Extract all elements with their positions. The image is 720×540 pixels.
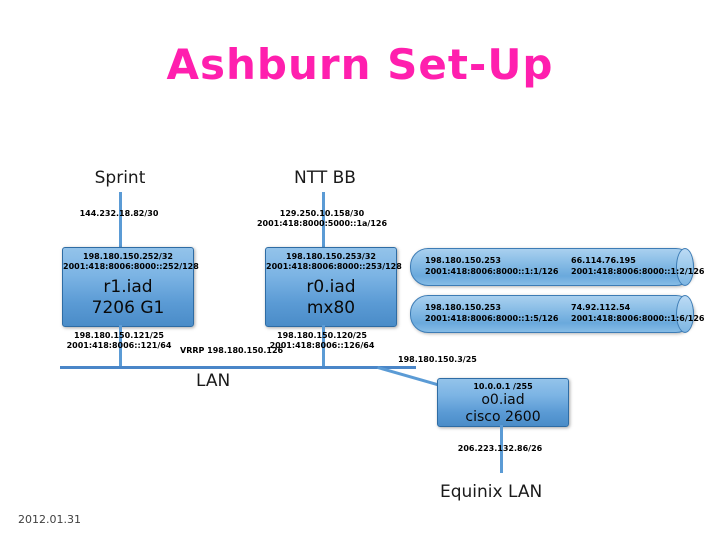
provider-label-sprint: Sprint (60, 168, 180, 188)
provider-label-ntt: NTT BB (265, 168, 385, 188)
router-r0-model: mx80 (266, 298, 396, 319)
router-r0-ipv6: 2001:418:8006:8000::253/128 (266, 262, 396, 272)
router-node-r0[interactable]: 198.180.150.253/32 2001:418:8006:8000::2… (265, 247, 397, 327)
tunnel-1-remote-ipv6: 2001:418:8006:8000::1:2/126 (571, 266, 704, 277)
lan-address-r1: 198.180.150.121/25 2001:418:8006::121/64 (49, 331, 189, 351)
router-r1-ipv6: 2001:418:8006:8000::252/128 (63, 262, 193, 272)
tunnel-1-local: 198.180.150.253 2001:418:8006:8000::1:1/… (425, 255, 558, 277)
tunnel-2-local: 198.180.150.253 2001:418:8006:8000::1:5/… (425, 302, 558, 324)
lan-r0-ipv4: 198.180.150.120/25 (252, 331, 392, 341)
equinix-lan-label: Equinix LAN (440, 482, 542, 502)
router-o0-ip: 10.0.0.1 /255 (438, 379, 568, 392)
tunnel-2-remote: 74.92.112.54 2001:418:8006:8000::1:6/126 (571, 302, 704, 324)
router-o0-model: cisco 2600 (438, 409, 568, 426)
tunnel-cylinder-1[interactable]: 198.180.150.253 2001:418:8006:8000::1:1/… (410, 248, 694, 286)
uplink-line-sprint (119, 192, 122, 248)
lan-bus-line (60, 366, 416, 369)
page-title: Ashburn Set-Up (0, 40, 720, 89)
date-stamp: 2012.01.31 (18, 513, 81, 526)
uplink-ntt-ipv6: 2001:418:8000:5000::1a/126 (252, 219, 392, 229)
equinix-link-address: 206.223.132.86/26 (430, 444, 570, 454)
router-r0-name: r0.iad (266, 277, 396, 298)
router-r1-ipv4: 198.180.150.252/32 (63, 248, 193, 262)
tunnel-2-local-ipv6: 2001:418:8006:8000::1:5/126 (425, 313, 558, 324)
router-o0-name: o0.iad (438, 392, 568, 409)
uplink-address-sprint: 144.232.18.82/30 (49, 209, 189, 219)
tunnel-2-local-ipv4: 198.180.150.253 (425, 302, 558, 313)
router-r1-name: r1.iad (63, 277, 193, 298)
lan-label: LAN (196, 371, 230, 391)
equinix-ipv4: 206.223.132.86/26 (430, 444, 570, 454)
vrrp-label: VRRP 198.180.150.126 (180, 346, 283, 355)
tunnel-1-remote-ipv4: 66.114.76.195 (571, 255, 704, 266)
lan-r1-ipv4: 198.180.150.121/25 (49, 331, 189, 341)
tunnel-2-remote-ipv6: 2001:418:8006:8000::1:6/126 (571, 313, 704, 324)
tunnel-1-local-ipv6: 2001:418:8006:8000::1:1/126 (425, 266, 558, 277)
oob-link-ipv4: 198.180.150.3/25 (398, 355, 508, 365)
slide-canvas: Ashburn Set-Up Sprint NTT BB 144.232.18.… (0, 0, 720, 540)
uplink-ntt-ipv4: 129.250.10.158/30 (252, 209, 392, 219)
tunnel-cylinder-2[interactable]: 198.180.150.253 2001:418:8006:8000::1:5/… (410, 295, 694, 333)
uplink-address-ntt: 129.250.10.158/30 2001:418:8000:5000::1a… (252, 209, 392, 229)
router-node-o0[interactable]: 10.0.0.1 /255 o0.iad cisco 2600 (437, 378, 569, 427)
router-node-r1[interactable]: 198.180.150.252/32 2001:418:8006:8000::2… (62, 247, 194, 327)
oob-link-address: 198.180.150.3/25 (398, 355, 508, 365)
tunnel-2-remote-ipv4: 74.92.112.54 (571, 302, 704, 313)
router-r0-ipv4: 198.180.150.253/32 (266, 248, 396, 262)
router-r1-model: 7206 G1 (63, 298, 193, 319)
tunnel-1-remote: 66.114.76.195 2001:418:8006:8000::1:2/12… (571, 255, 704, 277)
tunnel-1-local-ipv4: 198.180.150.253 (425, 255, 558, 266)
uplink-sprint-ipv4: 144.232.18.82/30 (49, 209, 189, 219)
lan-r1-ipv6: 2001:418:8006::121/64 (49, 341, 189, 351)
